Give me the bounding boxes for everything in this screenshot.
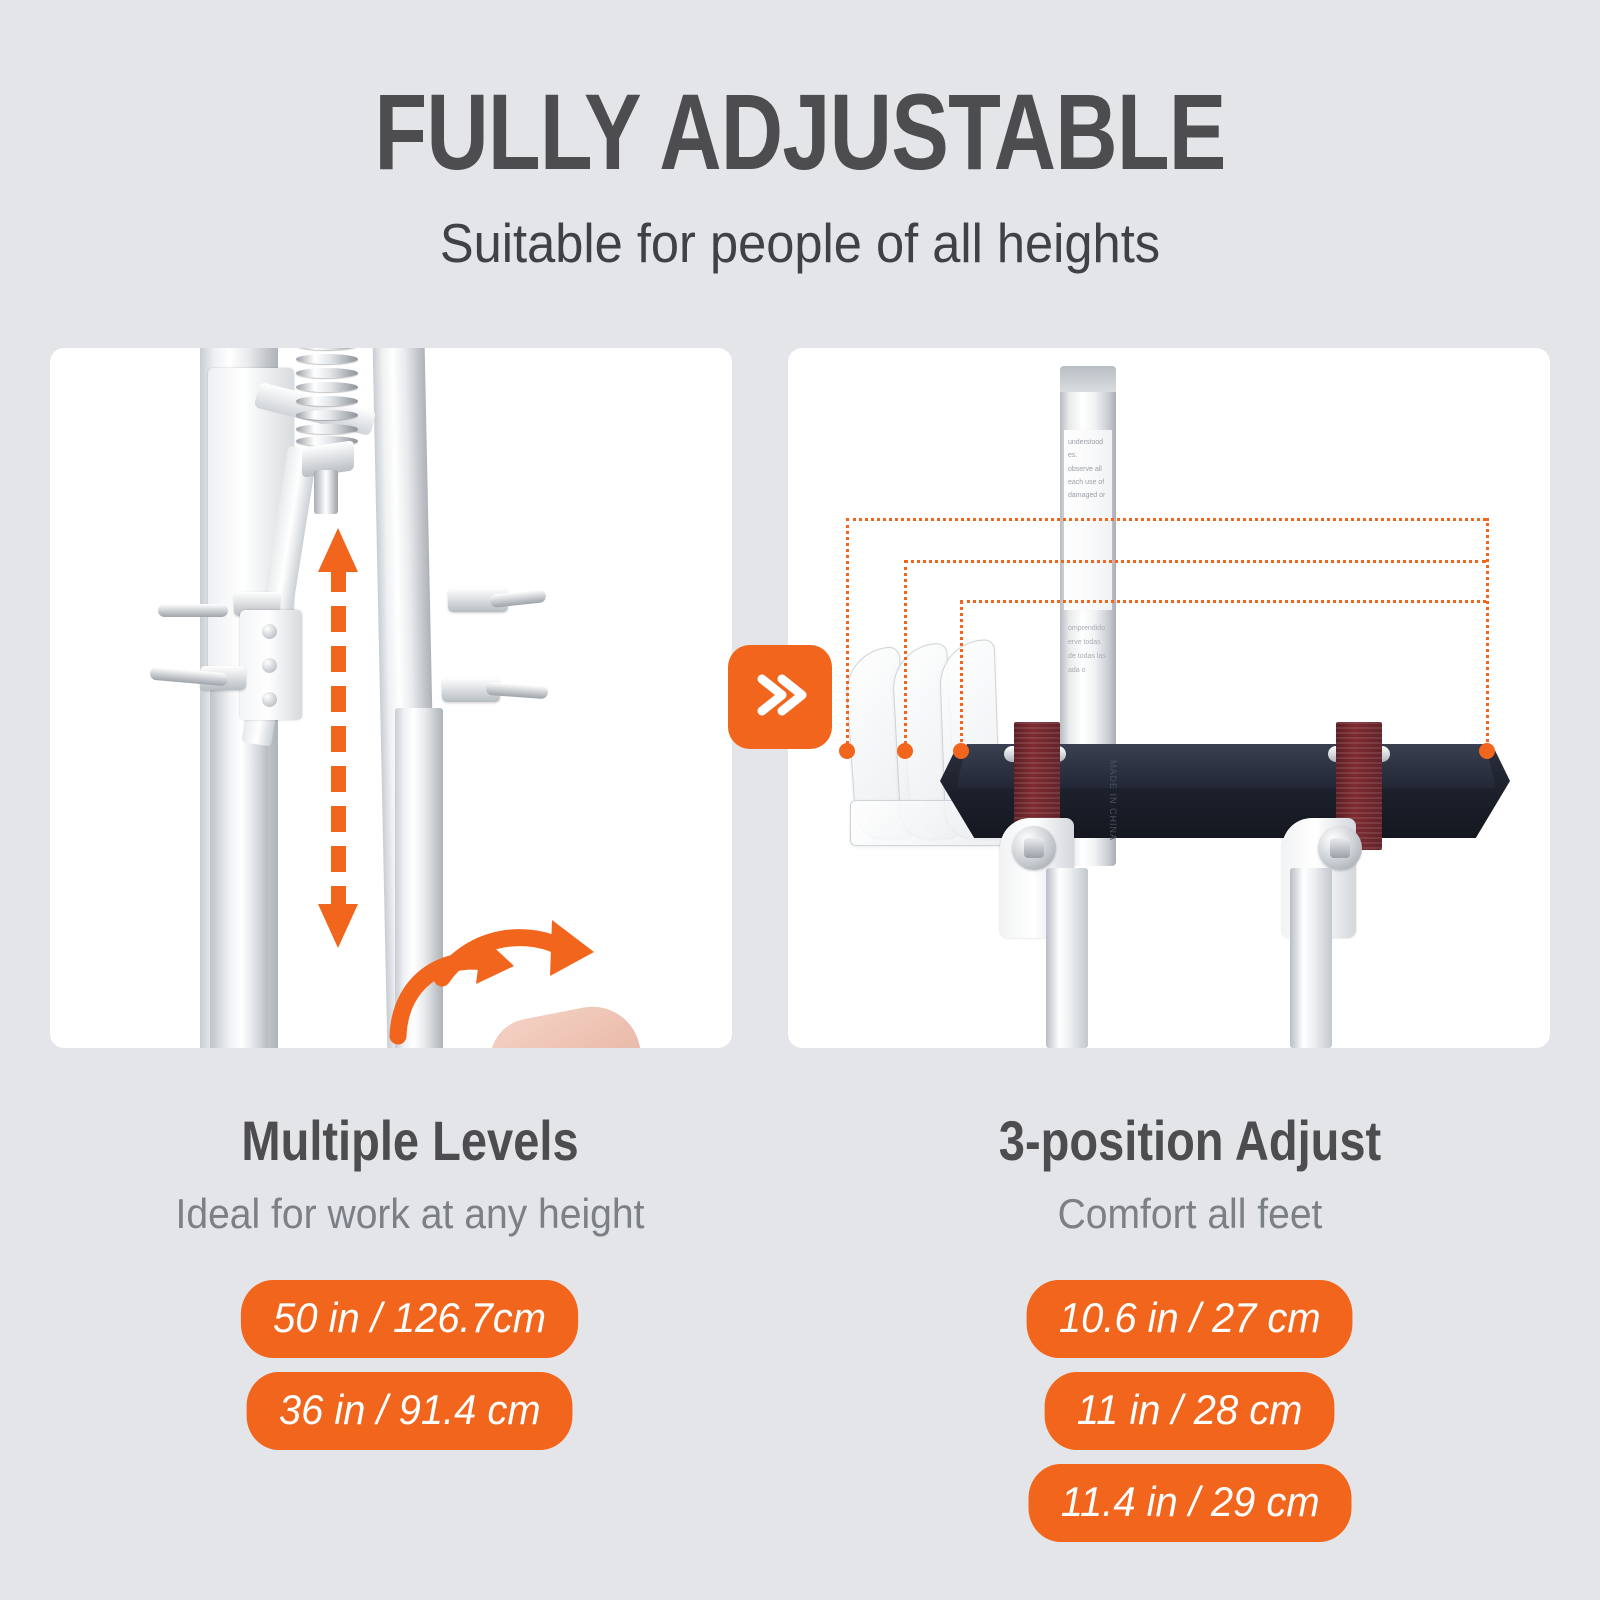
infographic-page: FULLY ADJUSTABLE Suitable for people of … xyxy=(0,0,1600,1600)
height-adjustment-illustration xyxy=(50,348,732,1048)
callout-shared-dot xyxy=(1479,743,1495,759)
hand-illustration xyxy=(402,984,732,1048)
platform-mark: MADE IN CHINA xyxy=(1108,760,1118,841)
callout-3-vertical xyxy=(960,600,963,750)
feature-badge-list: 10.6 in / 27 cm 11 in / 28 cm 11.4 in / … xyxy=(820,1238,1560,1542)
callout-1-horizontal xyxy=(846,518,1486,521)
callout-1-dot xyxy=(839,743,855,759)
measurement-badge: 50 in / 126.7cm xyxy=(241,1280,578,1358)
pole-warning-label-spanish: omprendido erve todas de todas las ada o xyxy=(1064,618,1112,738)
right-photo-panel: understood es. observe all each use of d… xyxy=(788,348,1550,1048)
callout-3-dot xyxy=(953,743,969,759)
stilt-pole-cap xyxy=(1060,366,1116,392)
feature-title: 3-position Adjust xyxy=(879,1110,1501,1172)
height-range-arrow-icon xyxy=(318,528,358,948)
transition-badge xyxy=(728,645,832,749)
feature-column-multiple-levels: Multiple Levels Ideal for work at any he… xyxy=(30,1110,790,1450)
leg-pivot-left xyxy=(1012,826,1056,870)
feature-badge-list: 50 in / 126.7cm 36 in / 91.4 cm xyxy=(30,1238,790,1450)
header: FULLY ADJUSTABLE Suitable for people of … xyxy=(0,0,1600,271)
feature-column-3-position-adjust: 3-position Adjust Comfort all feet 10.6 … xyxy=(820,1110,1560,1542)
callout-2-dot xyxy=(897,743,913,759)
left-photo-panel xyxy=(50,348,732,1048)
stilt-leg-right xyxy=(1290,868,1332,1048)
pin-plate xyxy=(240,610,302,720)
feature-subtitle: Comfort all feet xyxy=(846,1172,1534,1238)
spring-screw xyxy=(314,470,338,514)
measurement-badge: 10.6 in / 27 cm xyxy=(1027,1280,1353,1358)
measurement-badge: 11.4 in / 29 cm xyxy=(1028,1464,1351,1542)
callout-2-horizontal xyxy=(904,560,1486,563)
callout-1-vertical xyxy=(846,518,849,750)
callout-3-horizontal xyxy=(960,600,1486,603)
callout-shared-vertical xyxy=(1486,518,1489,748)
measurement-badge: 11 in / 28 cm xyxy=(1045,1372,1335,1450)
stilt-leg-left xyxy=(1046,868,1088,1048)
page-subtitle: Suitable for people of all heights xyxy=(64,186,1536,271)
page-title: FULLY ADJUSTABLE xyxy=(160,0,1440,186)
callout-2-vertical xyxy=(904,560,907,750)
feature-subtitle: Ideal for work at any height xyxy=(57,1172,764,1238)
locking-pin-upper xyxy=(158,604,228,617)
foot-position-illustration: understood es. observe all each use of d… xyxy=(788,348,1550,1048)
leg-pivot-right xyxy=(1318,826,1362,870)
double-chevron-right-icon xyxy=(752,671,808,724)
feature-title: Multiple Levels xyxy=(91,1110,729,1172)
measurement-badge: 36 in / 91.4 cm xyxy=(247,1372,573,1450)
